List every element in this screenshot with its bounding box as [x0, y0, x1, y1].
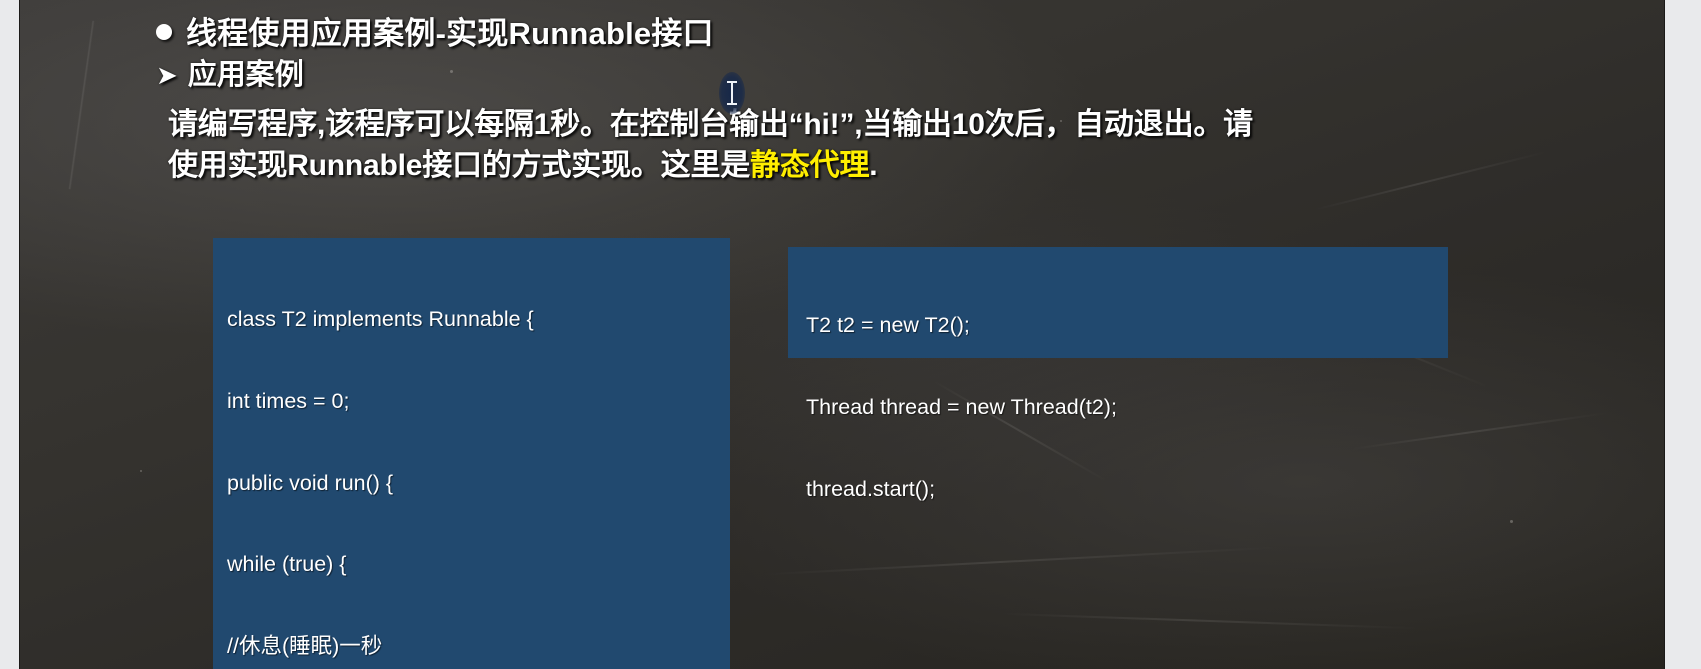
body-line-2-suffix: . — [869, 149, 877, 182]
code-line: class T2 implements Runnable { — [227, 306, 730, 333]
presentation-slide: 线程使用应用案例-实现Runnable接口 ➤ 应用案例 请编写程序,该程序可以… — [19, 0, 1665, 669]
chalk-speck — [1510, 520, 1513, 523]
chalk-streak — [1000, 613, 1420, 630]
body-line-2-prefix: 使用实现Runnable接口的方式实现。这里是 — [168, 149, 750, 182]
slide-title-row: 线程使用应用案例-实现Runnable接口 — [156, 14, 1576, 54]
page-title: 线程使用应用案例-实现Runnable接口 — [186, 14, 714, 54]
code-line: thread.start(); — [806, 476, 1448, 503]
code-line: Thread thread = new Thread(t2); — [806, 394, 1448, 421]
arrow-bullet-icon: ➤ — [156, 62, 178, 88]
slide-body-text: 请编写程序,该程序可以每隔1秒。在控制台输出“hi!”,当输出10次后，自动退出… — [168, 104, 1488, 186]
screenshot-root: 线程使用应用案例-实现Runnable接口 ➤ 应用案例 请编写程序,该程序可以… — [0, 0, 1701, 669]
code-line: T2 t2 = new T2(); — [806, 312, 1448, 339]
code-block-right: T2 t2 = new T2(); Thread thread = new Th… — [788, 247, 1448, 358]
code-line: //休息(睡眠)一秒 — [227, 633, 730, 660]
slide-subtitle-row: ➤ 应用案例 — [156, 56, 1576, 94]
chalk-streak — [68, 21, 95, 190]
bullet-dot-icon — [156, 24, 172, 40]
slide-subtitle: 应用案例 — [188, 56, 304, 94]
code-line: public void run() { — [227, 470, 730, 497]
code-line: while (true) { — [227, 551, 730, 578]
slide-heading-block: 线程使用应用案例-实现Runnable接口 ➤ 应用案例 — [156, 14, 1576, 94]
code-block-left: class T2 implements Runnable { int times… — [213, 238, 730, 669]
code-line: int times = 0; — [227, 388, 730, 415]
body-highlight-term: 静态代理 — [750, 149, 869, 182]
body-line-1: 请编写程序,该程序可以每隔1秒。在控制台输出“hi!”,当输出10次后，自动退出… — [168, 104, 1488, 145]
chalk-speck — [140, 470, 142, 472]
body-line-2: 使用实现Runnable接口的方式实现。这里是静态代理. — [168, 145, 1488, 186]
